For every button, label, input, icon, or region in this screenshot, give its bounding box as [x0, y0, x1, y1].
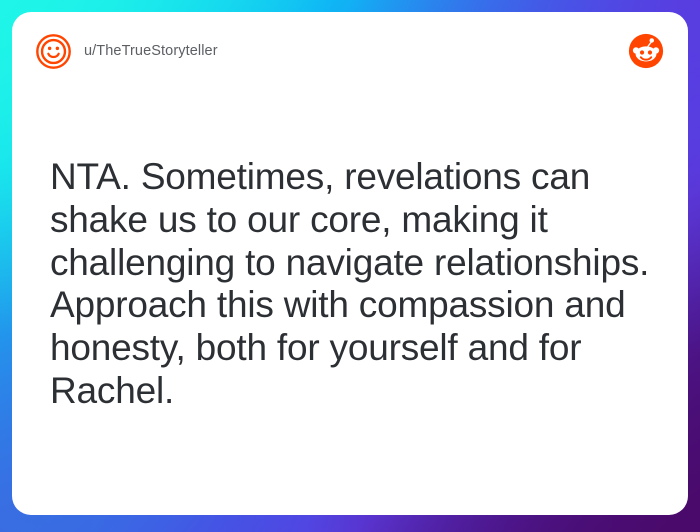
screenshot-root: u/TheTrueStoryteller NTA. Sometimes, rev… [0, 0, 700, 532]
post-body-text: NTA. Sometimes, revelations can shake us… [50, 156, 658, 413]
reddit-snoo-icon[interactable] [628, 33, 664, 69]
post-header: u/TheTrueStoryteller [12, 12, 688, 90]
reddit-post-card: u/TheTrueStoryteller NTA. Sometimes, rev… [12, 12, 688, 515]
smiley-face-avatar-icon[interactable] [35, 33, 72, 70]
username-label: u/TheTrueStoryteller [84, 43, 218, 59]
